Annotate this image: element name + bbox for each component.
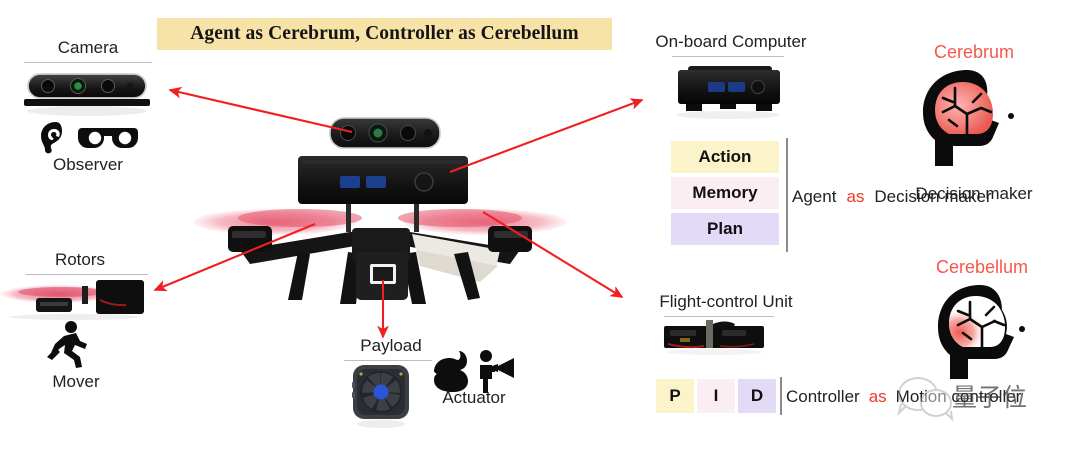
- flight-control-unit-heading: Flight-control Unit: [642, 292, 810, 312]
- observer-icon-group: [30, 118, 146, 154]
- agent-stack-item-memory[interactable]: Memory: [671, 177, 779, 209]
- cerebrum-title: Cerebrum: [884, 42, 1064, 63]
- camera-heading: Camera: [0, 38, 176, 58]
- ear-icon: [41, 122, 62, 153]
- actuator-caption: Actuator: [418, 388, 530, 408]
- controller-subject-label: Controller: [786, 387, 860, 407]
- watermark-text: 量子位: [952, 383, 1027, 412]
- rotors-photo: [0, 276, 148, 320]
- onboard-computer-divider: [672, 56, 784, 57]
- observer-caption: Observer: [0, 155, 176, 175]
- title-banner: Agent as Cerebrum, Controller as Cerebel…: [157, 18, 612, 50]
- camera-photo: [16, 68, 158, 120]
- bicep-icon: [434, 351, 468, 392]
- agent-relation-label: as: [846, 187, 864, 207]
- person-megaphone-icon: [480, 350, 514, 393]
- watermark: 量子位: [884, 370, 1080, 422]
- cerebrum-head-icon: [915, 68, 1027, 168]
- page-title: Agent as Cerebrum, Controller as Cerebel…: [190, 23, 578, 45]
- agent-stack-divider: [786, 138, 788, 252]
- pid-item-d[interactable]: D: [738, 379, 776, 413]
- pid-item-i[interactable]: I: [697, 379, 735, 413]
- drone-photo: [180, 100, 580, 310]
- cerebellum-title: Cerebellum: [884, 257, 1080, 278]
- cerebellum-head-icon: [930, 283, 1038, 379]
- wechat-icon: [899, 378, 952, 419]
- payload-photo: [348, 362, 416, 430]
- flight-control-unit-divider: [664, 316, 774, 317]
- agent-subject-label: Agent: [792, 187, 836, 207]
- cerebrum-caption: Decision maker: [878, 184, 1070, 204]
- camera-divider: [24, 62, 152, 63]
- onboard-computer-heading: On-board Computer: [645, 32, 817, 52]
- flight-control-unit-photo: [660, 318, 770, 356]
- pid-stack-divider: [780, 377, 782, 415]
- glasses-icon: [78, 128, 138, 148]
- rotors-divider: [26, 274, 148, 275]
- payload-divider: [344, 360, 432, 361]
- actuator-icon-group: [424, 346, 520, 394]
- pid-item-p[interactable]: P: [656, 379, 694, 413]
- onboard-computer-photo: [666, 60, 790, 122]
- mover-caption: Mover: [0, 372, 152, 392]
- agent-stack-item-action[interactable]: Action: [671, 141, 779, 173]
- running-person-icon: [44, 320, 90, 368]
- rotors-heading: Rotors: [0, 250, 160, 270]
- agent-stack-item-plan[interactable]: Plan: [671, 213, 779, 245]
